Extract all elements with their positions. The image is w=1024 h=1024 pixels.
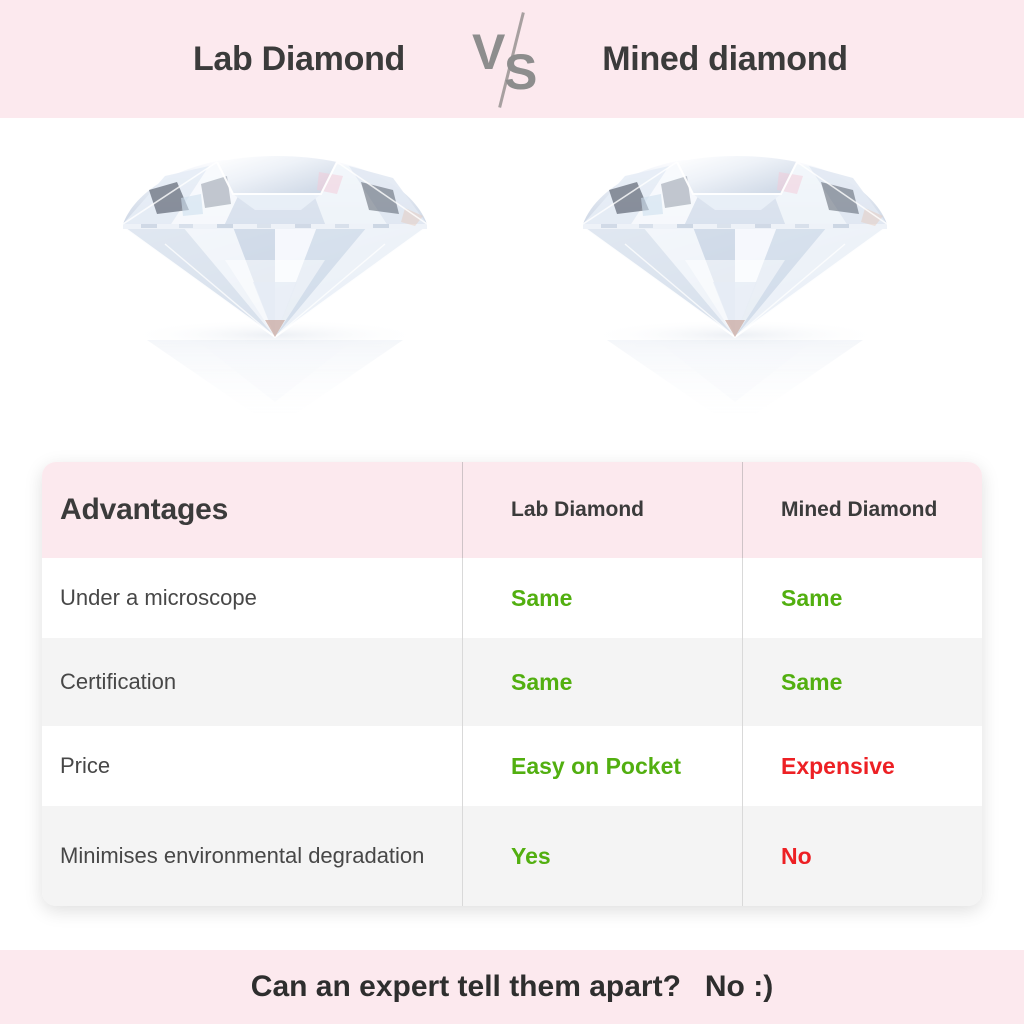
row-mined-value: Same	[781, 585, 842, 612]
row-lab-cell: Easy on Pocket	[462, 726, 742, 806]
row-label-cell: Minimises environmental degradation	[42, 806, 462, 906]
row-mined-cell: Same	[742, 638, 982, 726]
footer-question: Can an expert tell them apart?	[251, 970, 681, 1004]
row-label-cell: Certification	[42, 638, 462, 726]
vs-icon: V S	[464, 7, 560, 111]
row-lab-cell: Same	[462, 638, 742, 726]
diamond-stage	[0, 118, 1024, 448]
comparison-table: Advantages Lab Diamond Mined Diamond Und…	[42, 462, 982, 906]
table-row: Price Easy on Pocket Expensive	[42, 726, 982, 806]
table-row: Minimises environmental degradation Yes …	[42, 806, 982, 906]
row-lab-cell: Yes	[462, 806, 742, 906]
row-label: Price	[60, 750, 110, 781]
row-mined-value: No	[781, 843, 812, 870]
row-label-cell: Under a microscope	[42, 558, 462, 638]
header-band: Lab Diamond V S Mined diamond	[0, 0, 1024, 118]
table-header-advantages: Advantages	[42, 462, 462, 558]
row-mined-value: Same	[781, 669, 842, 696]
row-lab-value: Same	[511, 585, 572, 612]
row-label-cell: Price	[42, 726, 462, 806]
vs-letter-s: S	[504, 47, 537, 97]
row-lab-value: Same	[511, 669, 572, 696]
table-header-mined: Mined Diamond	[742, 462, 982, 558]
diamond-icon	[105, 132, 445, 432]
diamond-icon	[565, 132, 905, 432]
row-label: Minimises environmental degradation	[60, 840, 424, 871]
infographic-page: Lab Diamond V S Mined diamond	[0, 0, 1024, 1024]
footer-answer: No :)	[705, 970, 773, 1004]
header-title-lab: Lab Diamond	[134, 40, 464, 79]
row-mined-cell: Same	[742, 558, 982, 638]
row-mined-cell: No	[742, 806, 982, 906]
table-row: Under a microscope Same Same	[42, 558, 982, 638]
vs-letter-v: V	[472, 27, 505, 77]
diamond-image-lab	[105, 132, 445, 432]
table-header-lab: Lab Diamond	[462, 462, 742, 558]
row-label: Under a microscope	[60, 582, 257, 613]
footer-band: Can an expert tell them apart? No :)	[0, 950, 1024, 1024]
table-header-row: Advantages Lab Diamond Mined Diamond	[42, 462, 982, 558]
table-row: Certification Same Same	[42, 638, 982, 726]
table-header-mined-label: Mined Diamond	[781, 498, 937, 522]
row-label: Certification	[60, 666, 176, 697]
header-title-mined: Mined diamond	[560, 40, 890, 79]
diamond-image-mined	[565, 132, 905, 432]
table-header-lab-label: Lab Diamond	[511, 498, 644, 522]
row-lab-value: Yes	[511, 843, 551, 870]
row-mined-cell: Expensive	[742, 726, 982, 806]
row-mined-value: Expensive	[781, 753, 895, 780]
table-header-advantages-label: Advantages	[60, 493, 228, 527]
row-lab-cell: Same	[462, 558, 742, 638]
row-lab-value: Easy on Pocket	[511, 753, 681, 780]
